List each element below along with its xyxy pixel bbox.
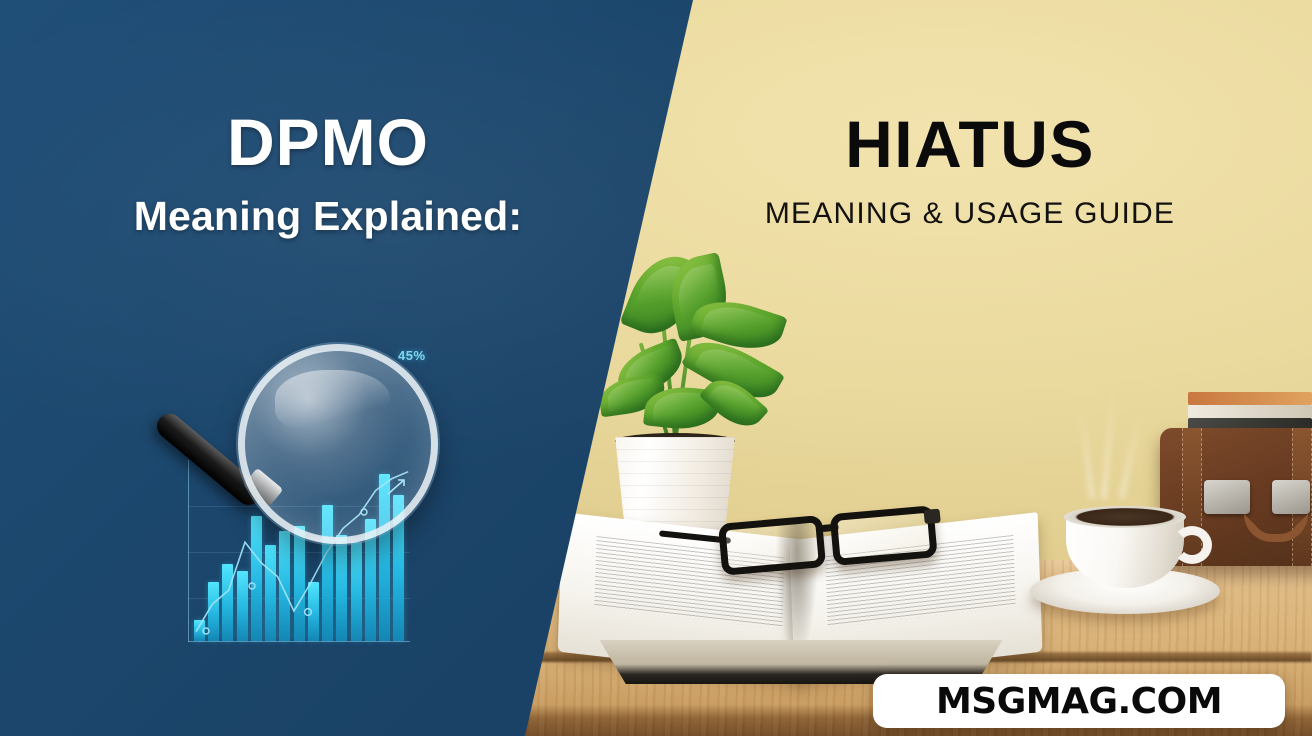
brand-badge[interactable]: MSGMAG.COM: [873, 674, 1285, 728]
right-subtitle: MEANING & USAGE GUIDE: [740, 197, 1200, 231]
left-heading-group: DPMO Meaning Explained:: [0, 108, 656, 240]
suitcase-latch: [1272, 480, 1310, 514]
left-title: DPMO: [0, 108, 656, 177]
glasses-lens-right: [830, 505, 938, 566]
steam-wisp: [1101, 388, 1116, 500]
coffee-cup: [1030, 490, 1220, 620]
book-stack: [1188, 392, 1312, 432]
steam-wisp: [1119, 412, 1142, 499]
right-heading-group: HIATUS MEANING & USAGE GUIDE: [740, 110, 1200, 231]
glasses-hinge: [924, 509, 941, 524]
chart-percent-label: 45%: [398, 348, 426, 363]
right-title: HIATUS: [740, 110, 1200, 179]
left-subtitle: Meaning Explained:: [0, 193, 656, 240]
cup-handle: [1172, 526, 1212, 564]
poster-canvas: HIATUS MEANING & USAGE GUIDE DPMO Meanin…: [0, 0, 1312, 736]
magnifier-chart-graphic: 45%: [120, 340, 450, 660]
brand-badge-label: MSGMAG.COM: [936, 681, 1222, 722]
glasses-lens-left: [718, 515, 826, 576]
steam-wisp: [1078, 404, 1095, 500]
magnifier-lens-icon: [238, 344, 438, 544]
cup-rim: [1064, 506, 1186, 528]
